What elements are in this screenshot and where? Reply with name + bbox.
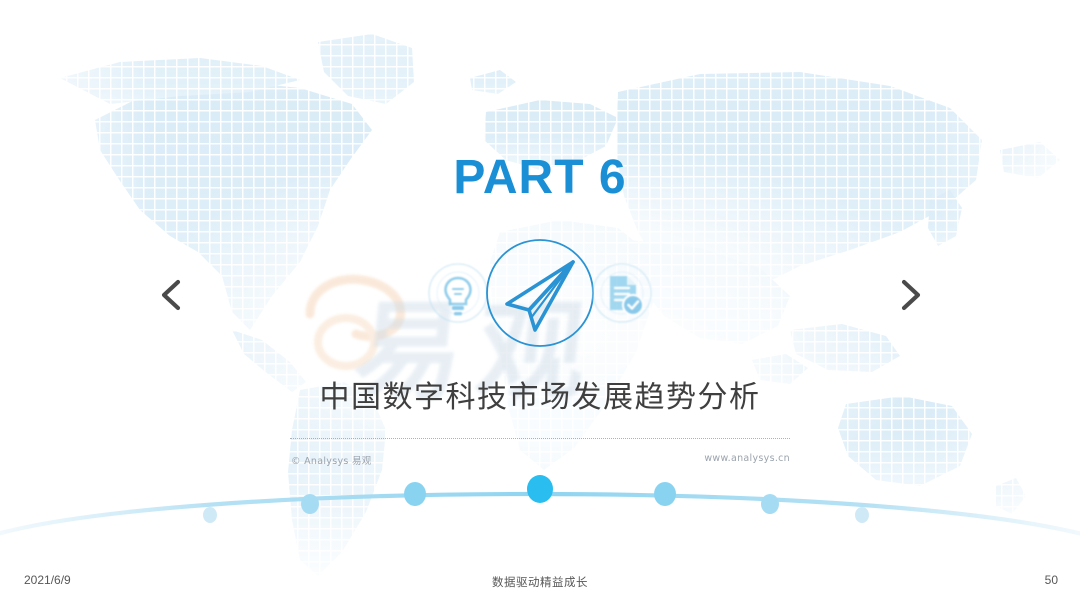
timeline-arc-chart bbox=[0, 460, 1080, 550]
arc-node bbox=[761, 494, 779, 514]
part-label: PART 6 bbox=[0, 150, 1080, 205]
arc-node bbox=[301, 494, 319, 514]
arc-node bbox=[654, 482, 676, 506]
slide-title: 中国数字科技市场发展趋势分析 bbox=[0, 372, 1080, 416]
chevron-right-icon[interactable] bbox=[888, 272, 934, 318]
paper-plane-icon bbox=[469, 238, 611, 348]
icon-cluster bbox=[415, 238, 665, 348]
arc-node bbox=[404, 482, 426, 506]
arc-nodes bbox=[203, 475, 869, 523]
arc-node bbox=[203, 507, 217, 523]
presentation-slide: 易观 PART 6 bbox=[0, 0, 1080, 608]
divider-dotted-line bbox=[290, 438, 790, 440]
footer-page-number: 50 bbox=[1045, 573, 1058, 587]
arc-node-active bbox=[527, 475, 553, 503]
footer-tagline: 数据驱动精益成长 bbox=[0, 574, 1080, 590]
arc-node bbox=[855, 507, 869, 523]
document-check-icon bbox=[591, 262, 653, 324]
chevron-left-icon[interactable] bbox=[148, 272, 194, 318]
